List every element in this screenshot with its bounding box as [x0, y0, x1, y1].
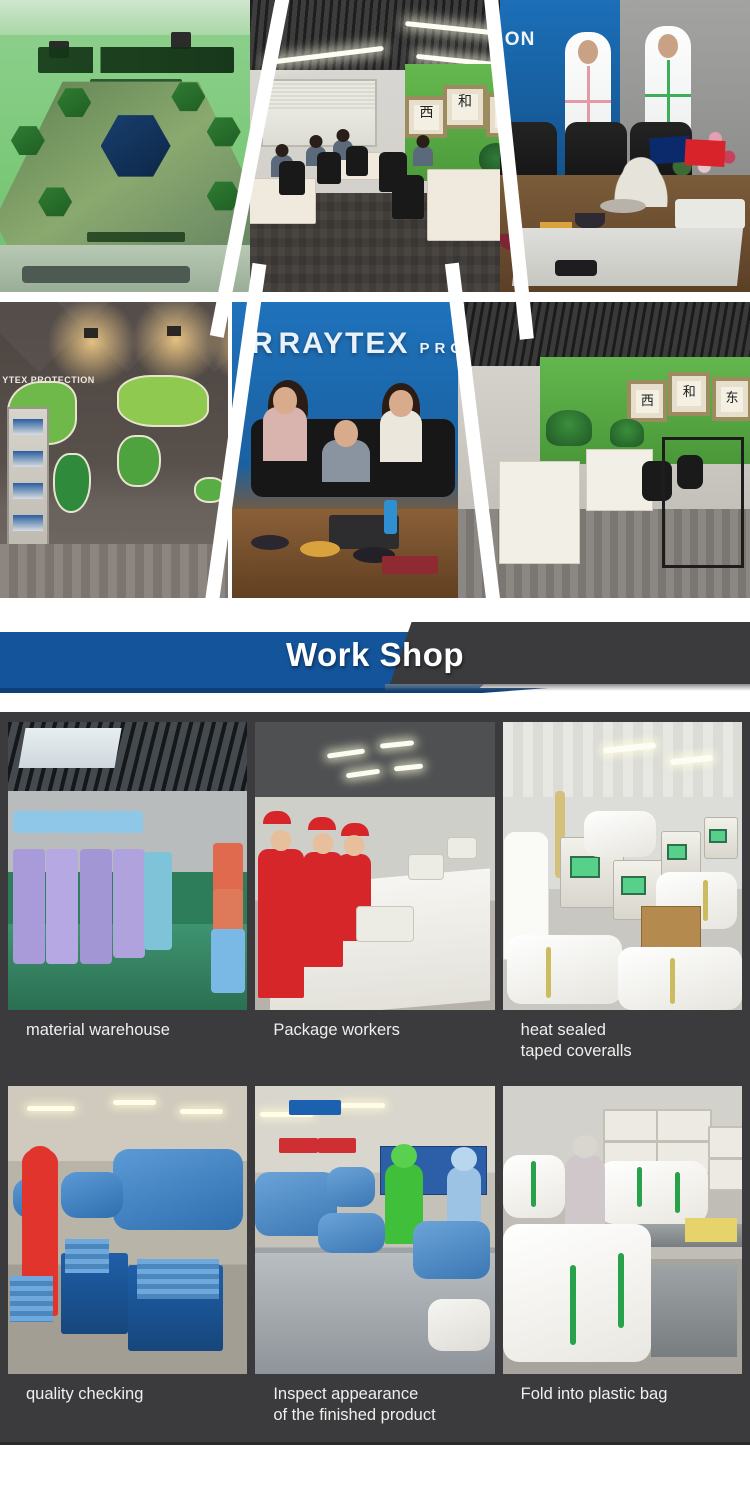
sewing-machine	[408, 854, 444, 880]
ceiling	[0, 0, 272, 35]
collection-bin	[651, 1265, 737, 1357]
seated-employee	[413, 146, 433, 166]
blue-gown-pile	[327, 1167, 375, 1207]
company-facility-collage: 西 和 东	[0, 0, 750, 600]
brochure	[382, 556, 438, 574]
banner-title: Work Shop	[0, 636, 750, 674]
seam-tape	[546, 947, 551, 999]
work-shop-cell-fold-into-plastic-bag[interactable]: Fold into plastic bag	[503, 1086, 742, 1440]
work-shop-cell-material-warehouse[interactable]: material warehouse	[8, 722, 247, 1076]
product-detail-page: 西 和 东	[0, 0, 750, 1501]
skylight	[19, 728, 122, 768]
seam-tape	[670, 958, 675, 1004]
raytex-brand-scene: ЯRAYTEXPROTECTI	[232, 300, 474, 598]
photo-caption: Fold into plastic bag	[503, 1374, 672, 1440]
green-seam-tape	[531, 1161, 536, 1207]
metal-shelf	[662, 437, 744, 568]
photo-caption: Package workers	[255, 1010, 404, 1076]
office-chair	[317, 152, 341, 184]
collage-panel-meeting-room: ON	[500, 0, 750, 292]
map-eurasia	[119, 377, 207, 425]
green-seam-tape	[637, 1167, 642, 1207]
white-crate	[656, 1109, 713, 1142]
ceiling-light	[27, 1106, 75, 1111]
collage-panel-open-plan-office: 西 和 东	[250, 0, 518, 292]
worker-cap	[308, 817, 336, 830]
seated-staff-center	[322, 440, 370, 482]
collage-panel-world-map-wall: YTEX PROTECTION	[0, 300, 228, 598]
frame-character: 东	[721, 387, 743, 412]
sewing-machine	[356, 906, 414, 942]
coverall-pile	[618, 947, 742, 1010]
yellow-sheet	[685, 1218, 738, 1241]
wall-frame: 西	[627, 380, 667, 422]
work-shop-cell-inspect-appearance[interactable]: Inspect appearance of the finished produ…	[255, 1086, 494, 1440]
green-seam-tape	[618, 1253, 624, 1328]
machine-display	[667, 844, 687, 860]
heat-sealed-coveralls-photo[interactable]	[503, 722, 742, 1010]
frame-character: 西	[414, 105, 439, 130]
window-blind	[263, 81, 376, 111]
fabric-roll	[56, 811, 100, 833]
quality-checking-photo[interactable]	[8, 1086, 247, 1374]
brochure-rack	[7, 407, 49, 559]
ceiling-light	[341, 1103, 384, 1108]
fabric-roll	[113, 849, 145, 958]
fabric-roll	[213, 889, 243, 935]
brochure-slot	[13, 419, 43, 435]
frame-character: 和	[452, 94, 478, 120]
flag-china	[684, 139, 725, 167]
standing-staff-right	[380, 410, 422, 462]
table-runner	[512, 228, 743, 286]
photo-caption: material warehouse	[8, 1010, 174, 1076]
wall-frame: 和	[668, 372, 710, 416]
snack-bowl	[555, 260, 597, 276]
projector	[675, 199, 745, 229]
frame-character: 西	[636, 390, 658, 414]
fabric-roll	[80, 849, 112, 964]
wall-frame: 和	[443, 85, 487, 129]
fabric-roll	[213, 843, 243, 895]
ceiling-light	[180, 1109, 223, 1114]
fold-into-plastic-bag-photo[interactable]	[503, 1086, 742, 1374]
work-shop-cell-package-workers[interactable]: Package workers	[255, 722, 494, 1076]
raytex-brand-label: RAYTEX	[279, 327, 410, 360]
culture-wall-headline	[38, 47, 234, 73]
green-seam-tape	[675, 1172, 680, 1212]
fabric-roll	[211, 929, 245, 992]
work-shop-cell-quality-checking[interactable]: quality checking	[8, 1086, 247, 1440]
sewing-worker	[258, 849, 304, 999]
bench	[22, 266, 191, 284]
folded-gown-stack	[428, 1299, 490, 1351]
office-second-view-scene: 西 和 东	[458, 300, 750, 598]
standing-staff-left	[263, 407, 307, 461]
blue-gown-pile	[61, 1172, 123, 1218]
fabric-roll	[13, 811, 57, 833]
seam-taping-machine	[704, 817, 738, 859]
caption-line-2: taped coveralls	[521, 1042, 632, 1060]
fabric-roll	[99, 811, 143, 833]
white-coverall-pile	[503, 1224, 651, 1362]
raytex-brand-text: ЯRAYTEXPROTECTI	[249, 327, 474, 361]
caption-line-2: of the finished product	[273, 1406, 435, 1424]
fabric-roll	[46, 849, 78, 964]
inspect-appearance-photo[interactable]	[255, 1086, 494, 1374]
packed-gown-stack	[65, 1239, 108, 1274]
green-seam-tape	[570, 1265, 576, 1346]
work-shop-banner: Work Shop	[0, 600, 750, 712]
packed-gown-stack	[137, 1259, 218, 1299]
work-shop-row-1: material warehouse	[0, 722, 750, 1076]
package-workers-photo[interactable]	[255, 722, 494, 1010]
office-chair	[279, 161, 305, 195]
world-map-scene: YTEX PROTECTION	[0, 300, 228, 598]
caption-line-1: heat sealed	[521, 1021, 606, 1039]
wall-banner	[318, 1138, 356, 1153]
water-bottle	[384, 500, 397, 534]
meeting-room-scene: ON	[500, 0, 750, 292]
wall-frame: 东	[712, 377, 750, 421]
material-warehouse-photo[interactable]	[8, 722, 247, 1010]
storage-cabinet	[499, 461, 580, 564]
ceiling-light	[380, 740, 414, 748]
worker-cap	[263, 811, 291, 824]
folded-gown-stack	[318, 1213, 385, 1253]
culture-wall-footline	[87, 232, 185, 243]
work-shop-cell-heat-sealed[interactable]: heat sealed taped coveralls	[503, 722, 742, 1076]
brochure-slot	[13, 515, 43, 531]
white-crate	[603, 1109, 660, 1142]
photo-caption: heat sealed taped coveralls	[503, 1010, 636, 1076]
work-shop-row-2: quality checking	[0, 1086, 750, 1440]
brochure-slot	[13, 483, 43, 499]
ceiling-light	[113, 1100, 156, 1105]
brochure-slot	[13, 451, 43, 467]
white-crate	[708, 1126, 742, 1159]
collage-panel-raytex-wall: ЯRAYTEXPROTECTI	[232, 300, 474, 598]
wall-lamp	[167, 326, 181, 336]
collage-divider	[0, 292, 750, 302]
photo-caption: quality checking	[8, 1374, 147, 1440]
caption-line-1: Inspect appearance	[273, 1385, 418, 1403]
frame-character: 和	[677, 381, 701, 406]
photo-caption: Inspect appearance of the finished produ…	[255, 1374, 439, 1440]
wall-lamp	[84, 328, 98, 338]
coverall-pile	[584, 811, 656, 857]
wall-banner	[279, 1138, 317, 1153]
collage-panel-office-second-view: 西 和 东	[458, 300, 750, 598]
office-plant	[610, 419, 644, 447]
banner-shadow	[385, 684, 750, 691]
white-crate	[708, 1158, 742, 1191]
fabric-roll	[144, 852, 172, 950]
office-plant	[546, 410, 592, 446]
snack-plate	[600, 199, 646, 213]
machine-display	[621, 876, 646, 895]
white-coverall-pile	[598, 1161, 708, 1224]
wall-logo-text: ON	[505, 29, 536, 51]
office-chair	[392, 175, 424, 219]
ceiling-light	[327, 748, 366, 758]
wall-frame: 西	[405, 96, 447, 138]
machine-display	[709, 829, 726, 843]
ceiling-light	[394, 764, 423, 772]
sewing-machine	[447, 837, 477, 859]
floor-carpet	[0, 544, 228, 598]
folded-gown-stack	[413, 1221, 490, 1279]
office-chair	[346, 146, 368, 176]
worker-cap	[341, 823, 369, 836]
coverall-pile	[507, 935, 622, 1004]
open-plan-office-scene: 西 和 东	[250, 0, 518, 292]
machine-display	[570, 856, 600, 878]
blue-gown-pile	[113, 1149, 242, 1230]
packed-gown-stack	[10, 1276, 53, 1322]
work-shop-gallery: material warehouse	[0, 712, 750, 1445]
seam-tape	[703, 880, 708, 920]
fabric-roll	[13, 849, 45, 964]
ceiling-light	[346, 769, 380, 779]
wall-banner	[289, 1100, 342, 1115]
map-south-america	[55, 455, 89, 511]
map-africa	[119, 437, 159, 485]
